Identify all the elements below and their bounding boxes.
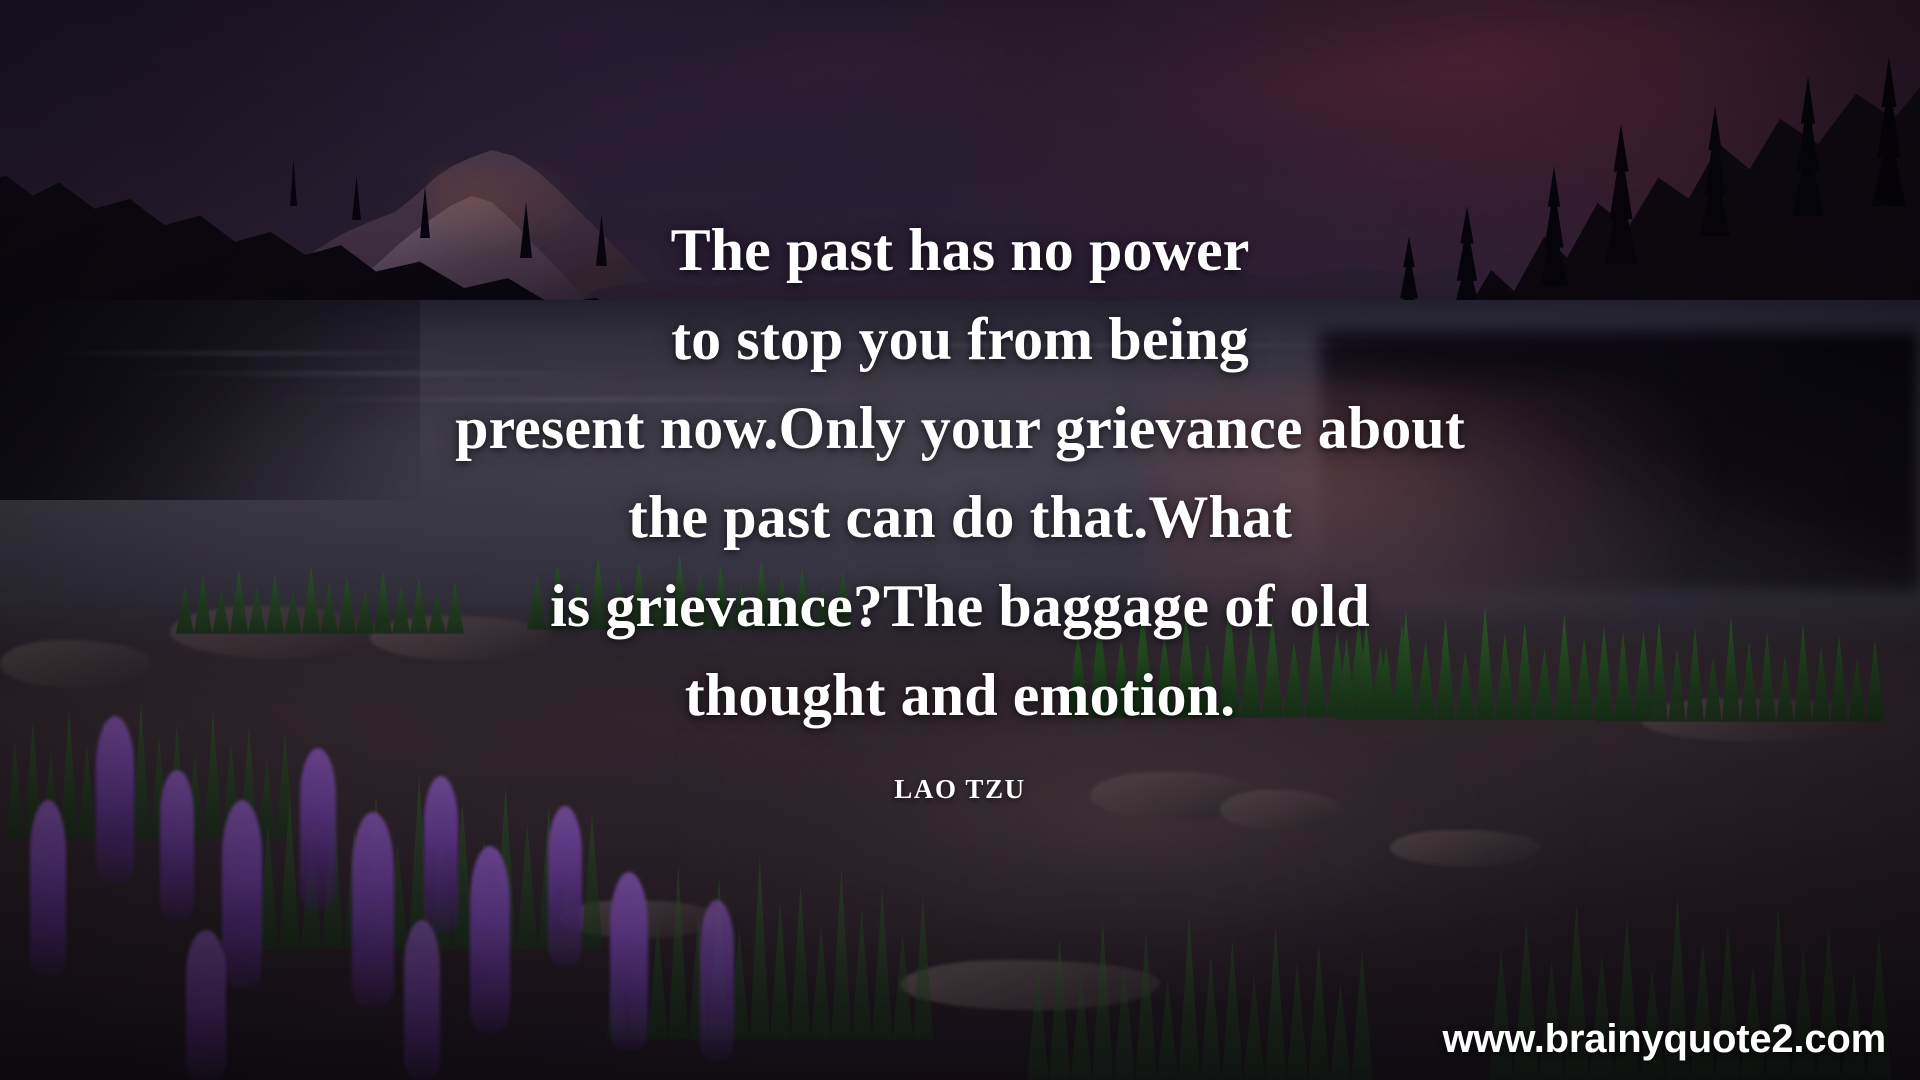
quote-author: LAO TZU xyxy=(894,774,1026,805)
quote-line: is grievance?The baggage of old xyxy=(260,562,1660,651)
quote-line: the past can do that.What xyxy=(260,473,1660,562)
quote-content: The past has no power to stop you from b… xyxy=(0,0,1920,1080)
quote-text: The past has no power to stop you from b… xyxy=(260,206,1660,740)
quote-line: The past has no power xyxy=(260,206,1660,295)
quote-line: to stop you from being xyxy=(260,295,1660,384)
quote-line: present now.Only your grievance about xyxy=(260,384,1660,473)
watermark-url: www.brainyquote2.com xyxy=(1443,1017,1886,1062)
quote-card: The past has no power to stop you from b… xyxy=(0,0,1920,1080)
quote-line: thought and emotion. xyxy=(260,651,1660,740)
